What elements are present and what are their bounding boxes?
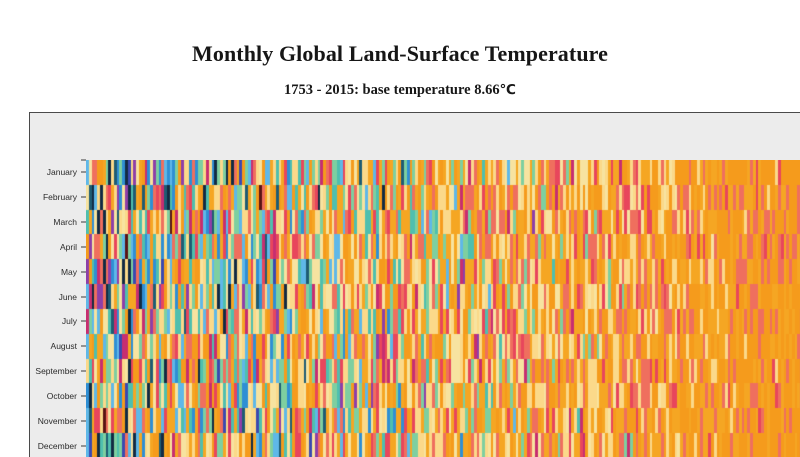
y-axis-label-january: January [47, 167, 77, 177]
page-subtitle: 1753 - 2015: base temperature 8.66℃ [0, 81, 800, 100]
y-axis-label-july: July [62, 316, 77, 326]
degree-celsius-icon: ℃ [500, 82, 516, 98]
heatmap-canvas[interactable] [86, 160, 800, 457]
y-axis-label-november: November [38, 416, 77, 426]
y-axis-label-february: February [43, 192, 77, 202]
y-axis-label-june: June [59, 292, 77, 302]
y-axis-label-december: December [38, 441, 77, 451]
y-axis-label-april: April [60, 242, 77, 252]
chart-panel: JanuaryFebruaryMarchAprilMayJuneJulyAugu… [29, 112, 800, 457]
y-axis-label-march: March [53, 217, 77, 227]
y-axis-label-september: September [35, 366, 77, 376]
y-axis-label-october: October [47, 391, 77, 401]
y-axis: JanuaryFebruaryMarchAprilMayJuneJulyAugu… [30, 113, 86, 457]
page-subtitle-text: 1753 - 2015: base temperature 8.66 [284, 82, 500, 98]
page-title: Monthly Global Land-Surface Temperature [0, 41, 800, 67]
y-axis-label-may: May [61, 267, 77, 277]
heatmap-plot[interactable] [86, 160, 800, 457]
y-axis-label-august: August [51, 341, 77, 351]
